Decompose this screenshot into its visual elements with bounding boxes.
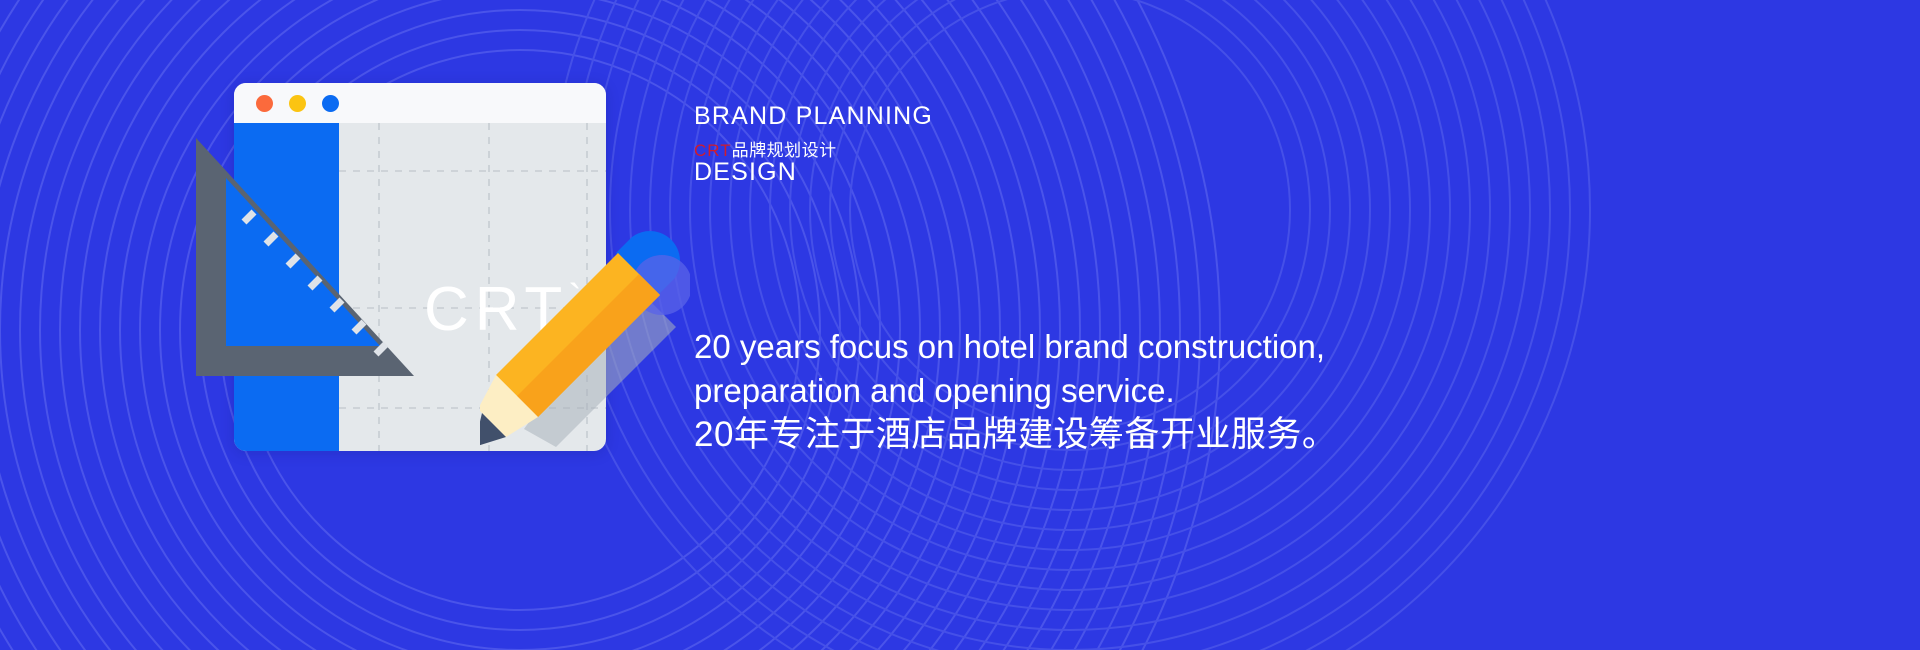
brand-design-illustration: CRT` xyxy=(190,78,680,478)
eyebrow-line-2: DESIGN xyxy=(694,158,933,186)
eyebrow-chinese-text: 品牌规划设计 xyxy=(732,141,837,160)
headline-english-line-2: preparation and opening service. xyxy=(694,369,1414,413)
window-title-bar xyxy=(234,83,606,123)
headline-english-line-1: 20 years focus on hotel brand constructi… xyxy=(694,325,1414,369)
headline-english: 20 years focus on hotel brand constructi… xyxy=(694,325,1414,412)
eyebrow-line-1: BRAND PLANNING xyxy=(694,102,933,130)
triangle-ruler-icon xyxy=(190,132,420,382)
pencil-icon xyxy=(480,223,690,473)
crt-brand-mark: CRT xyxy=(694,141,732,160)
maximize-dot[interactable] xyxy=(322,95,339,112)
eyebrow-chinese: CRT品牌规划设计 xyxy=(694,140,837,162)
copy-column: BRAND PLANNING DESIGN CRT品牌规划设计 20 years… xyxy=(694,0,1794,650)
close-dot[interactable] xyxy=(256,95,273,112)
brand-banner: CRT` xyxy=(0,0,1920,650)
minimize-dot[interactable] xyxy=(289,95,306,112)
headline-chinese: 20年专注于酒店品牌建设筹备开业服务。 xyxy=(694,412,1337,458)
